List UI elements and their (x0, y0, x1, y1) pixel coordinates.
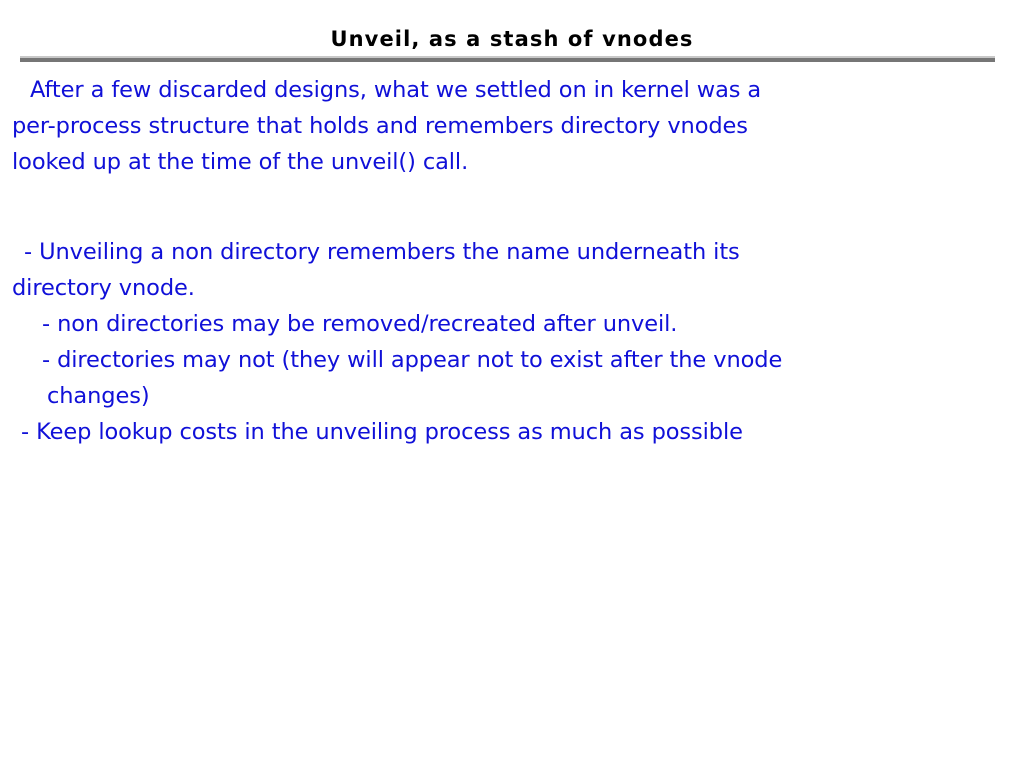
intro-paragraph-line-1: After a few discarded designs, what we s… (0, 72, 1024, 108)
paragraph-gap-extra (0, 216, 1024, 234)
intro-paragraph-line-3: looked up at the time of the unveil() ca… (0, 144, 1024, 180)
bullet-item-2: - non directories may be removed/recreat… (0, 306, 1024, 342)
intro-paragraph: After a few discarded designs, what we s… (0, 72, 1024, 180)
bullet-item-3-line-2: changes) (0, 378, 1024, 414)
slide-canvas: Unveil, as a stash of vnodes After a few… (0, 0, 1024, 768)
divider-shadow (20, 58, 995, 62)
page-title: Unveil, as a stash of vnodes (0, 26, 1024, 52)
slide-body: After a few discarded designs, what we s… (0, 72, 1024, 450)
paragraph-gap (0, 180, 1024, 216)
intro-paragraph-line-2: per-process structure that holds and rem… (0, 108, 1024, 144)
bullet-item-1-line-1: - Unveiling a non directory remembers th… (0, 234, 1024, 270)
bullet-list: - Unveiling a non directory remembers th… (0, 234, 1024, 450)
bullet-item-3-line-1: - directories may not (they will appear … (0, 342, 1024, 378)
bullet-item-4: - Keep lookup costs in the unveiling pro… (0, 414, 1024, 450)
bullet-item-1-line-2: directory vnode. (0, 270, 1024, 306)
title-divider (20, 56, 995, 62)
